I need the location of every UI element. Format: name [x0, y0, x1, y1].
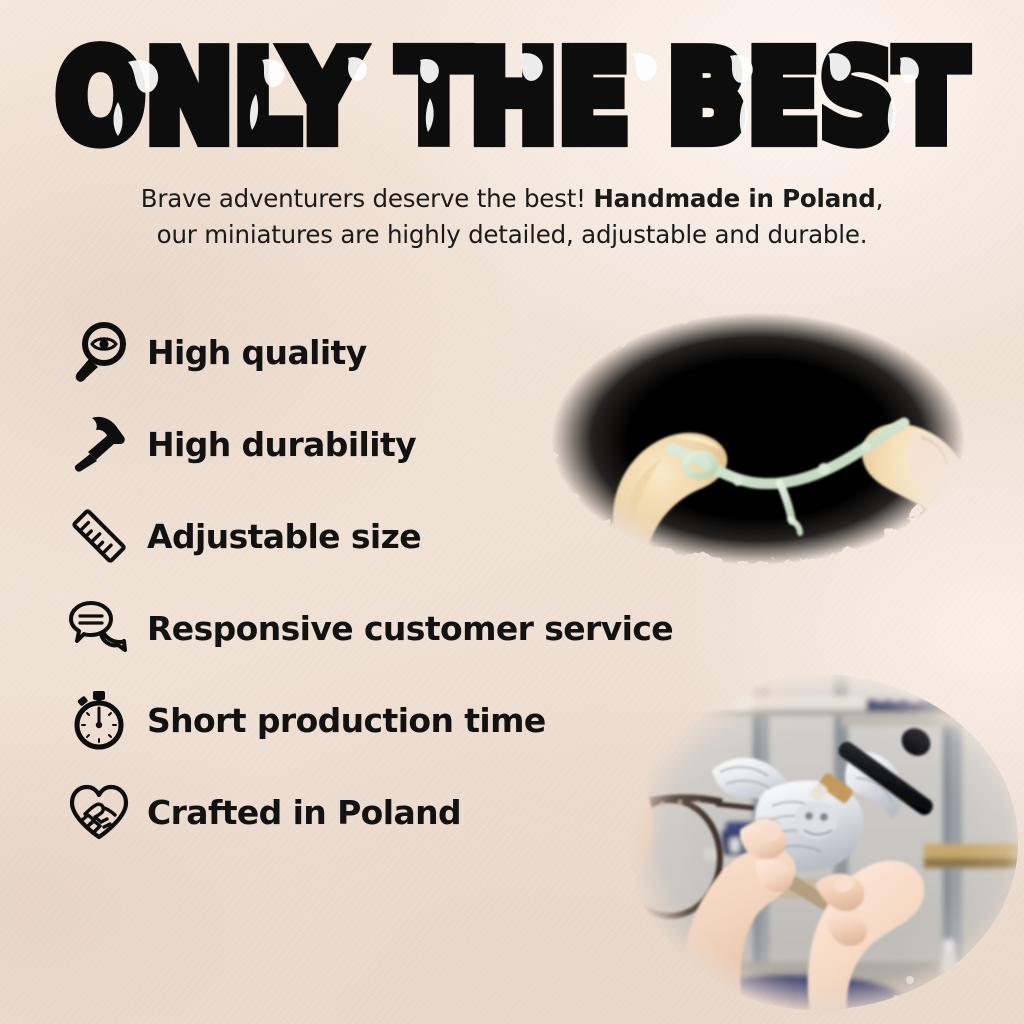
feature-label: High quality	[147, 333, 367, 372]
feature-label: Responsive customer service	[147, 609, 673, 648]
ruler-icon	[60, 497, 138, 575]
hammer-icon	[60, 405, 138, 483]
feature-row-responsive-service: Responsive customer service	[60, 582, 760, 674]
magnifier-eye-icon	[60, 313, 138, 391]
handshake-heart-icon	[60, 773, 138, 851]
speech-bubbles-icon	[60, 589, 138, 667]
feature-label: Adjustable size	[147, 517, 421, 556]
subtitle-line1: Brave adventurers deserve the best! Hand…	[141, 184, 883, 213]
feature-row-crafted-in-poland: Crafted in Poland	[60, 766, 760, 858]
subtitle: Brave adventurers deserve the best! Hand…	[96, 181, 928, 252]
feature-row-high-durability: High durability	[60, 398, 760, 490]
feature-list: High quality High durability	[60, 306, 760, 858]
subtitle-bold: Handmade in Poland	[593, 184, 875, 213]
feature-row-short-production: Short production time	[60, 674, 760, 766]
feature-label: High durability	[147, 425, 416, 464]
feature-row-adjustable-size: Adjustable size	[60, 490, 760, 582]
promo-banner: 2	[0, 0, 1024, 1024]
stopwatch-icon	[60, 681, 138, 759]
feature-row-high-quality: High quality	[60, 306, 760, 398]
subtitle-lead: Brave adventurers deserve the best!	[141, 184, 594, 213]
feature-label: Crafted in Poland	[147, 793, 461, 832]
feature-label: Short production time	[147, 701, 546, 740]
subtitle-tail: ,	[876, 184, 884, 213]
page-title: ONLY THE BEST	[0, 36, 1024, 159]
subtitle-line2: our miniatures are highly detailed, adju…	[157, 220, 868, 249]
